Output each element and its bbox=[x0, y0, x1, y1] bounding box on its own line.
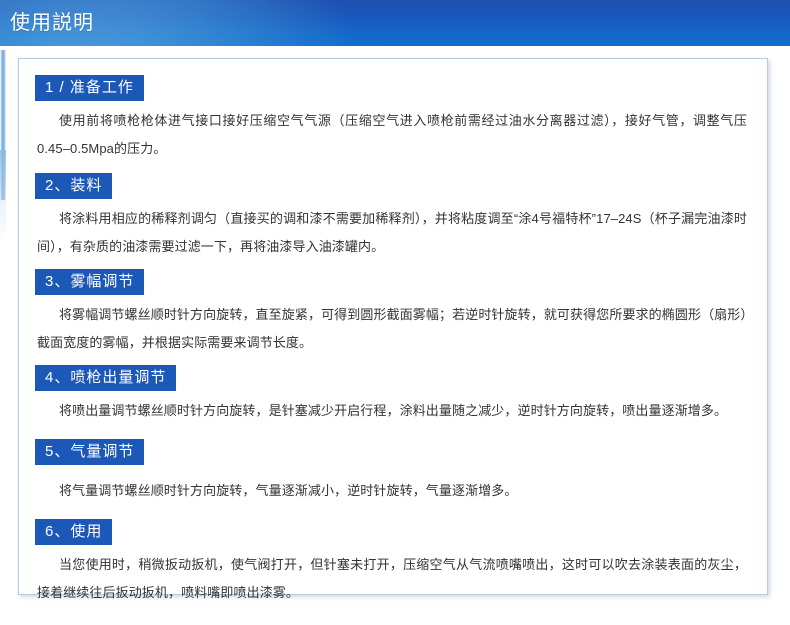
section-body-text: 将气量调节螺丝顺时针方向旋转，气量逐渐减小，逆时针旋转，气量逐渐增多。 bbox=[35, 477, 751, 505]
instruction-section: 5、气量调节 将气量调节螺丝顺时针方向旋转，气量逐渐减小，逆时针旋转，气量逐渐增… bbox=[35, 439, 751, 505]
section-body-text: 将涂料用相应的稀释剂调匀（直接买的调和漆不需要加稀释剂），并将粘度调至“涂4号福… bbox=[35, 205, 751, 261]
instructions-card: 1 / 准备工作 使用前将喷枪枪体进气接口接好压缩空气气源（压缩空气进入喷枪前需… bbox=[18, 58, 768, 595]
section-body-text: 使用前将喷枪枪体进气接口接好压缩空气气源（压缩空气进入喷枪前需经过油水分离器过滤… bbox=[35, 107, 751, 163]
section-heading-badge: 3、雾幅调节 bbox=[35, 269, 144, 295]
instruction-section: 6、使用 当您使用时，稍微扳动扳机，使气阀打开，但针塞未打开，压缩空气从气流喷嘴… bbox=[35, 519, 751, 607]
section-body-text: 当您使用时，稍微扳动扳机，使气阀打开，但针塞未打开，压缩空气从气流喷嘴喷出，这时… bbox=[35, 551, 751, 607]
page-header-bar: 使用説明 bbox=[0, 0, 790, 46]
section-body-text: 将雾幅调节螺丝顺时针方向旋转，直至旋紧，可得到圆形截面雾幅；若逆时针旋转，就可获… bbox=[35, 301, 751, 357]
page-title: 使用説明 bbox=[10, 10, 94, 36]
instructions-card-content: 1 / 准备工作 使用前将喷枪枪体进气接口接好压缩空气气源（压缩空气进入喷枪前需… bbox=[19, 59, 767, 625]
section-heading-badge: 6、使用 bbox=[35, 519, 112, 545]
instruction-section: 4、喷枪出量调节 将喷出量调节螺丝顺时针方向旋转，是针塞减少开启行程，涂料出量随… bbox=[35, 365, 751, 425]
left-edge-panel-sliver-fade bbox=[0, 150, 6, 245]
section-heading-badge: 1 / 准备工作 bbox=[35, 75, 144, 101]
section-heading-badge: 4、喷枪出量调节 bbox=[35, 365, 176, 391]
instruction-section: 1 / 准备工作 使用前将喷枪枪体进气接口接好压缩空气气源（压缩空气进入喷枪前需… bbox=[35, 75, 751, 163]
instruction-section: 3、雾幅调节 将雾幅调节螺丝顺时针方向旋转，直至旋紧，可得到圆形截面雾幅；若逆时… bbox=[35, 269, 751, 357]
section-heading-badge: 2、装料 bbox=[35, 173, 112, 199]
section-heading-badge: 5、气量调节 bbox=[35, 439, 144, 465]
instruction-section: 2、装料 将涂料用相应的稀释剂调匀（直接买的调和漆不需要加稀释剂），并将粘度调至… bbox=[35, 173, 751, 261]
section-body-text: 将喷出量调节螺丝顺时针方向旋转，是针塞减少开启行程，涂料出量随之减少，逆时针方向… bbox=[35, 397, 751, 425]
